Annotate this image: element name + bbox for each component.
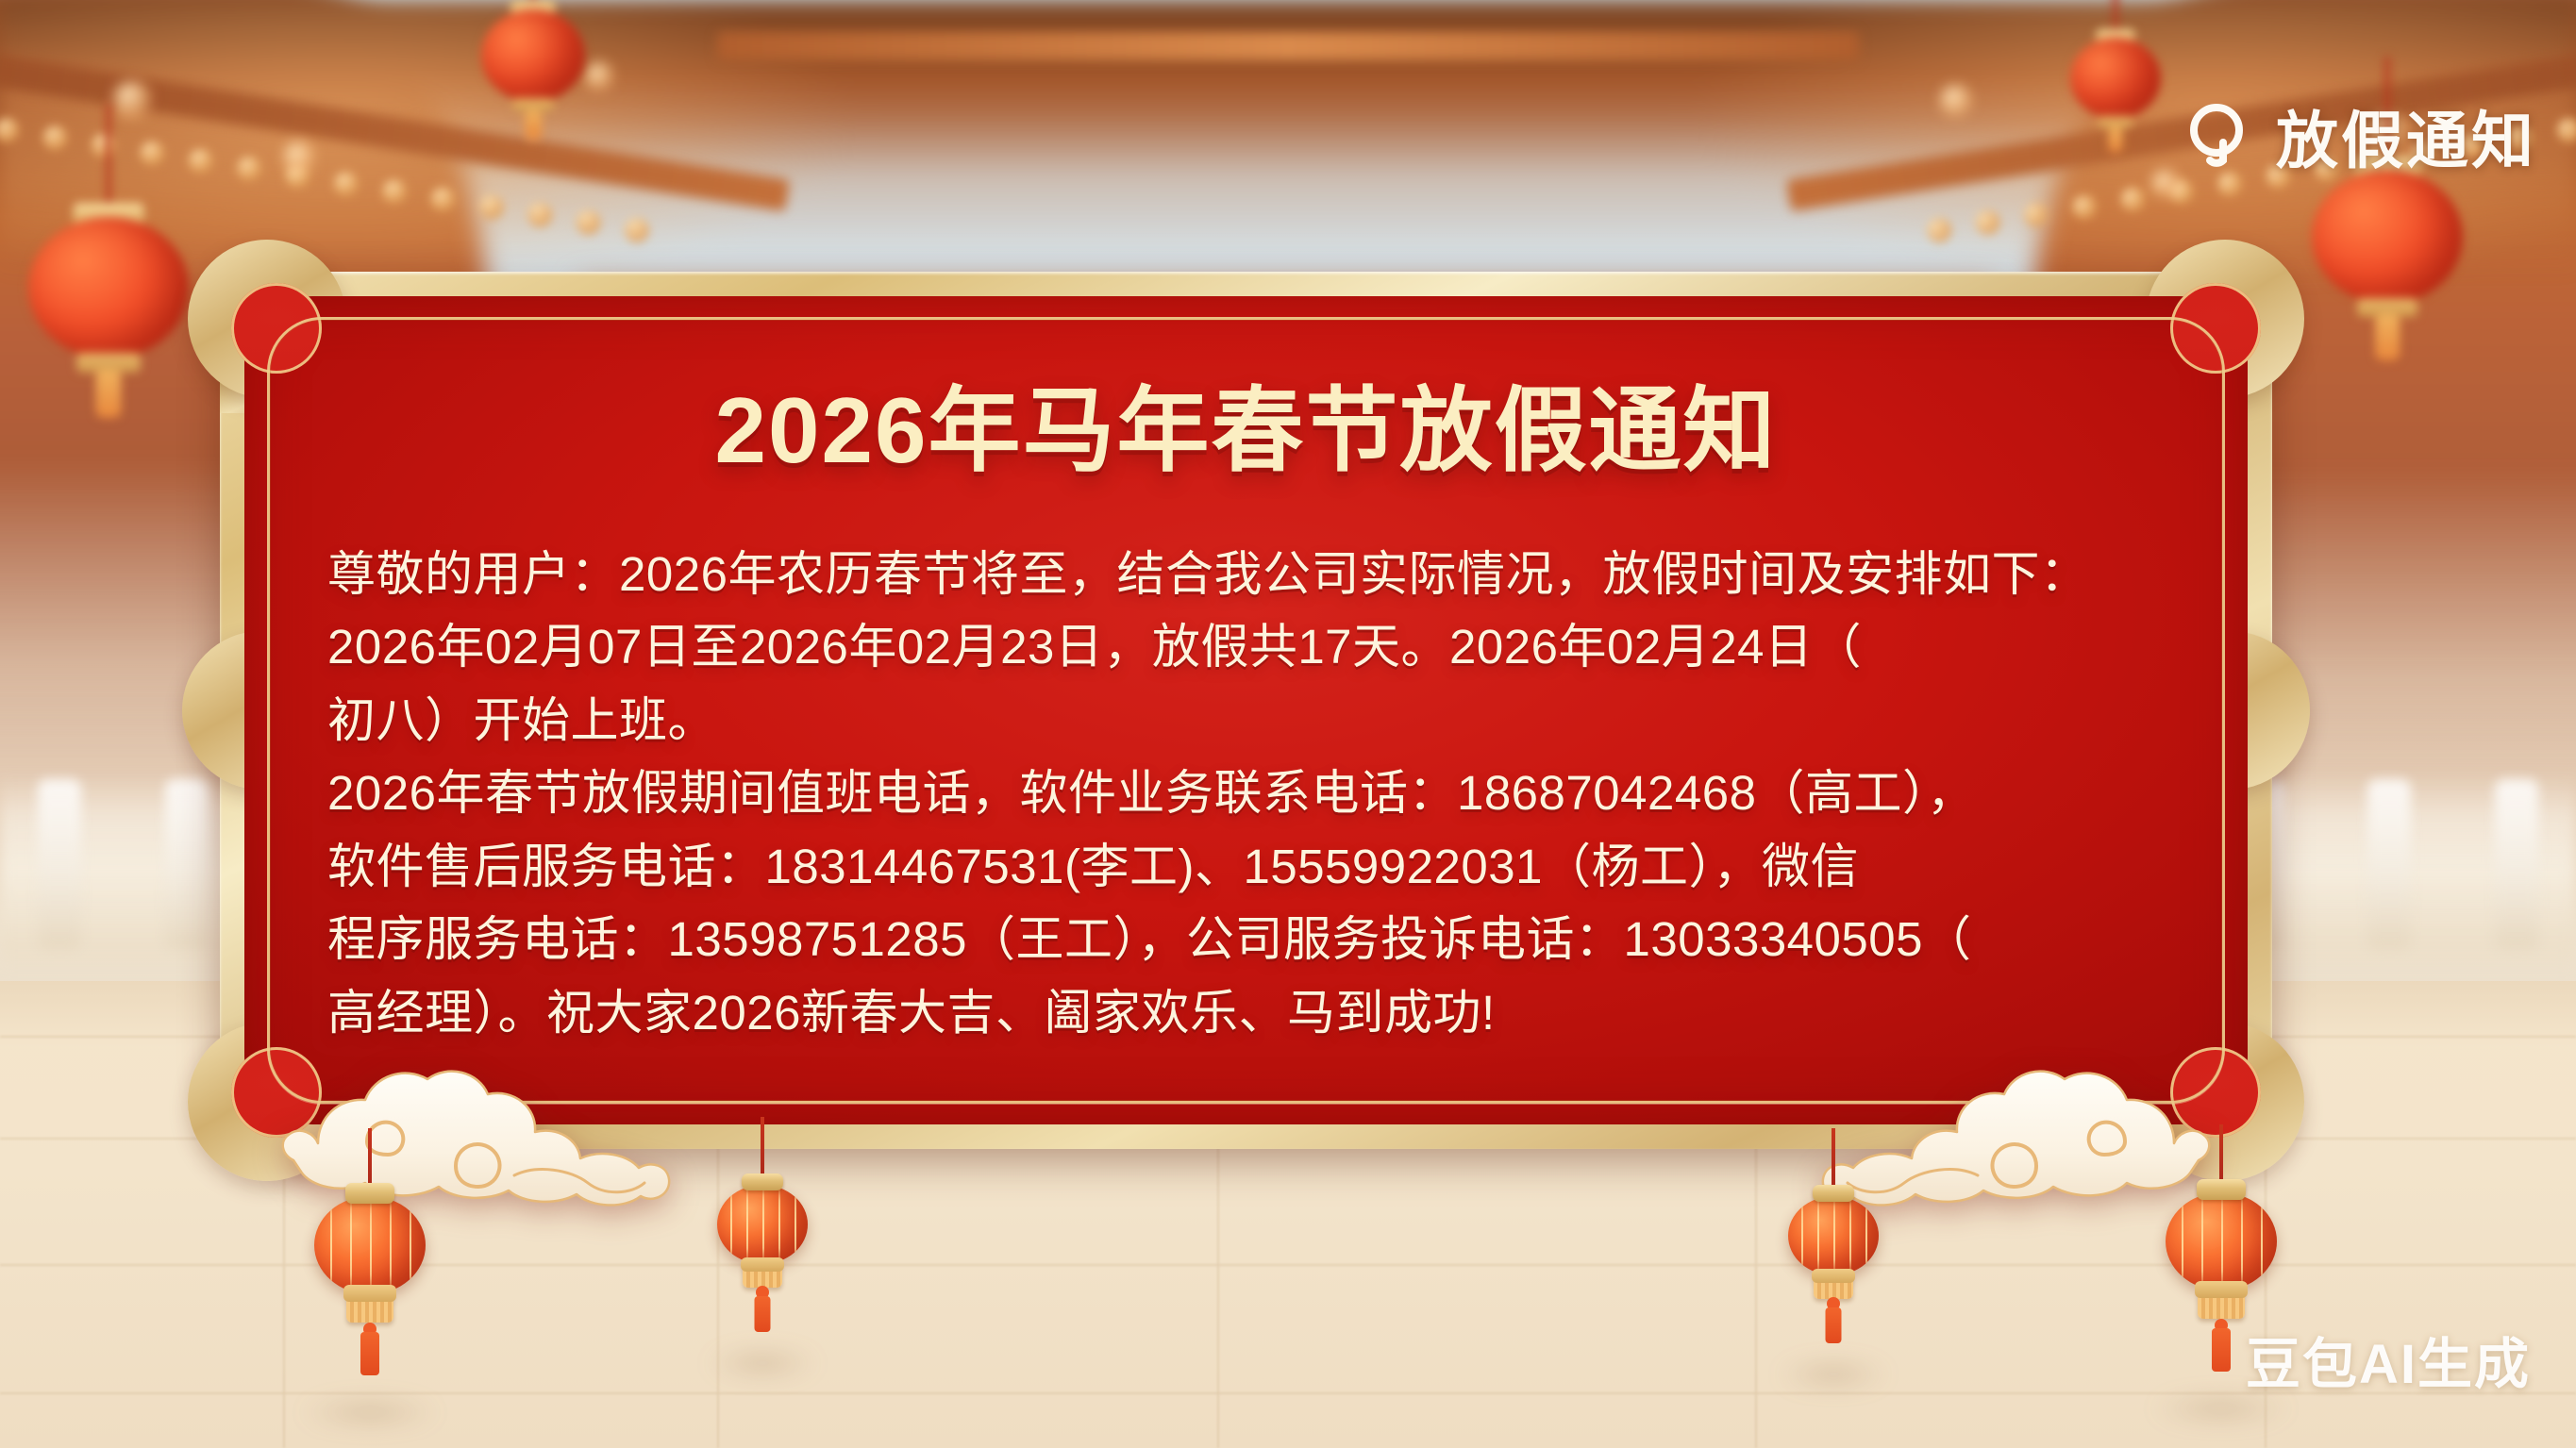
inner-notch-bottom-left bbox=[231, 1047, 322, 1138]
notice-body: 尊敬的用户：2026年农历春节将至，结合我公司实际情况，放假时间及安排如下： 2… bbox=[327, 538, 2165, 1050]
notice-title: 2026年马年春节放假通知 bbox=[310, 379, 2182, 483]
brand-logo: 放假通知 bbox=[2185, 91, 2536, 181]
background-lantern bbox=[28, 217, 189, 358]
bokeh-light bbox=[113, 81, 151, 119]
balustrade-post bbox=[2367, 779, 2411, 949]
lantern-icon bbox=[314, 1196, 426, 1294]
roof-ridge-center bbox=[717, 32, 1859, 60]
inner-notch-bottom-right bbox=[2170, 1047, 2261, 1138]
background-lantern bbox=[2312, 170, 2463, 304]
ai-watermark: 豆包AI生成 bbox=[2246, 1320, 2531, 1399]
background-lantern bbox=[481, 9, 585, 102]
balustrade-post bbox=[2495, 779, 2538, 949]
inner-notch-top-left bbox=[231, 283, 322, 374]
notice-line: 软件售后服务电话：18314467531(李工)、15559922031（杨工）… bbox=[327, 830, 2165, 904]
inner-notch-top-right bbox=[2170, 283, 2261, 374]
balustrade-post bbox=[38, 779, 81, 949]
poster-canvas: 放假通知 2026年马年春节放假通知 尊敬的用户：2026年农历春节将至，结合我… bbox=[0, 0, 2576, 1448]
balustrade-post bbox=[165, 779, 209, 949]
lantern-icon bbox=[2166, 1192, 2277, 1290]
background-lantern bbox=[2070, 38, 2161, 119]
lantern-icon bbox=[717, 1185, 808, 1264]
q-circle-logo-icon bbox=[2185, 101, 2255, 171]
notice-line: 2026年02月07日至2026年02月23日，放假共17天。2026年02月2… bbox=[327, 610, 2165, 684]
lantern-icon bbox=[1788, 1196, 1879, 1275]
logo-wordmark: 放假通知 bbox=[2276, 91, 2536, 181]
notice-line: 尊敬的用户：2026年农历春节将至，结合我公司实际情况，放假时间及安排如下： bbox=[327, 538, 2165, 611]
notice-line: 2026年春节放假期间值班电话，软件业务联系电话：18687042468（高工）… bbox=[327, 757, 2165, 830]
card-content: 2026年马年春节放假通知 尊敬的用户：2026年农历春节将至，结合我公司实际情… bbox=[310, 338, 2182, 1083]
bokeh-light bbox=[2151, 170, 2180, 198]
bokeh-light bbox=[585, 62, 613, 91]
notice-line: 高经理）。祝大家2026新春大吉、阖家欢乐、马到成功! bbox=[327, 976, 2165, 1050]
notice-line: 初八）开始上班。 bbox=[327, 684, 2165, 757]
bokeh-light bbox=[283, 141, 315, 174]
bokeh-light bbox=[1940, 85, 1972, 117]
notice-card: 2026年马年春节放假通知 尊敬的用户：2026年农历春节将至，结合我公司实际情… bbox=[220, 272, 2272, 1149]
notice-line: 程序服务电话：13598751285（王工），公司服务投诉电话：13033340… bbox=[327, 903, 2165, 976]
